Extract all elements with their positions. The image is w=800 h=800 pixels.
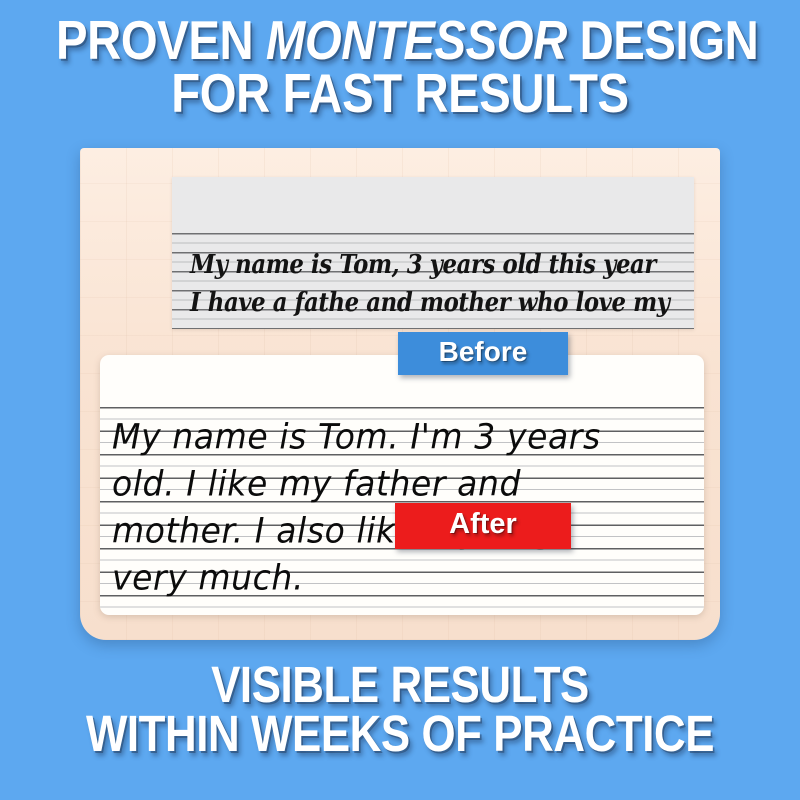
- after-handwriting-line-4: very much.: [112, 557, 697, 598]
- headline-top-line-1: PROVEN MONTESSOR DESIGN: [56, 14, 744, 67]
- after-handwriting-line-2: old. I like my father and: [112, 463, 697, 504]
- headline-bottom: VISIBLE RESULTS WITHIN WEEKS OF PRACTICE: [0, 660, 800, 759]
- after-handwriting-line-1: My name is Tom. I'm 3 years: [112, 416, 697, 457]
- before-handwriting-line-2: I have a fathe and mother who love my: [190, 287, 677, 317]
- writing-board: My name is Tom, 3 years old this year I …: [80, 148, 720, 640]
- before-handwriting-line-1: My name is Tom, 3 years old this year: [190, 249, 677, 279]
- headline-bottom-line-2: WITHIN WEEKS OF PRACTICE: [56, 709, 744, 758]
- promo-poster: PROVEN MONTESSOR DESIGN FOR FAST RESULTS…: [0, 0, 800, 800]
- headline-top: PROVEN MONTESSOR DESIGN FOR FAST RESULTS: [0, 14, 800, 121]
- headline-bottom-line-1: VISIBLE RESULTS: [56, 660, 744, 709]
- badge-after: After: [395, 503, 571, 549]
- before-panel: My name is Tom, 3 years old this year I …: [172, 177, 694, 329]
- after-panel: My name is Tom. I'm 3 years old. I like …: [100, 355, 704, 615]
- headline-top-line-2: FOR FAST RESULTS: [56, 67, 744, 120]
- badge-before: Before: [398, 332, 568, 375]
